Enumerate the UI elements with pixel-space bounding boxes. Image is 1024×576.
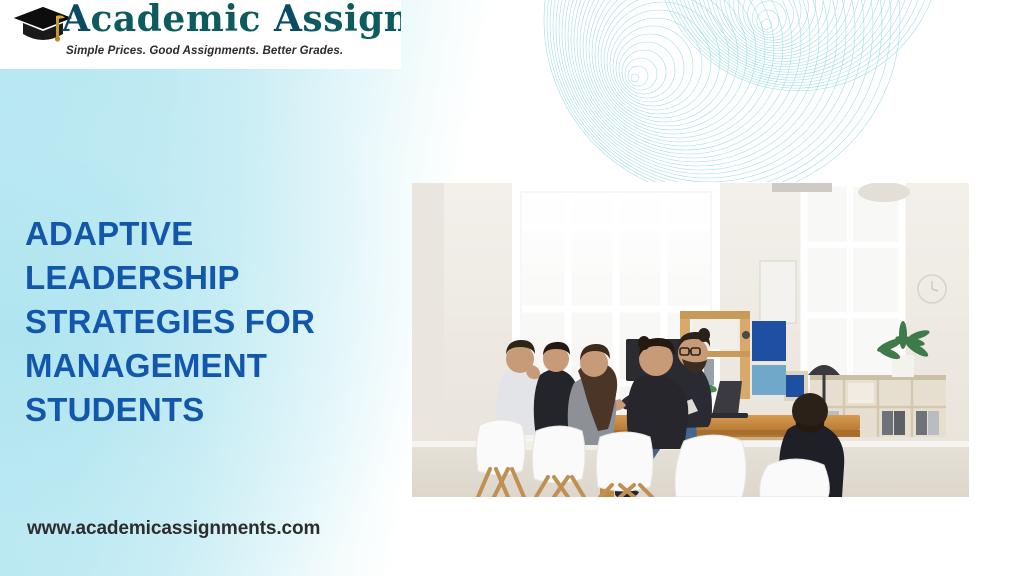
brand-tagline: Simple Prices. Good Assignments. Better … <box>66 45 343 57</box>
wordmark-a1: A <box>62 0 90 40</box>
wordmark-assignments: ssignments <box>302 0 401 40</box>
website-url[interactable]: www.academicassignments.com <box>27 518 320 540</box>
brand-wordmark: Academic Assignments <box>62 0 401 40</box>
wordmark-a2: A <box>274 0 302 40</box>
brand-logo[interactable]: Academic Assignments Simple Prices. Good… <box>0 0 401 69</box>
page-title: Adaptive Leadership Strategies for Manag… <box>25 212 385 432</box>
wordmark-academic: cademic <box>90 0 274 40</box>
slide-canvas: Adaptive Leadership Strategies for Manag… <box>0 0 1024 576</box>
hero-photo <box>412 183 969 497</box>
